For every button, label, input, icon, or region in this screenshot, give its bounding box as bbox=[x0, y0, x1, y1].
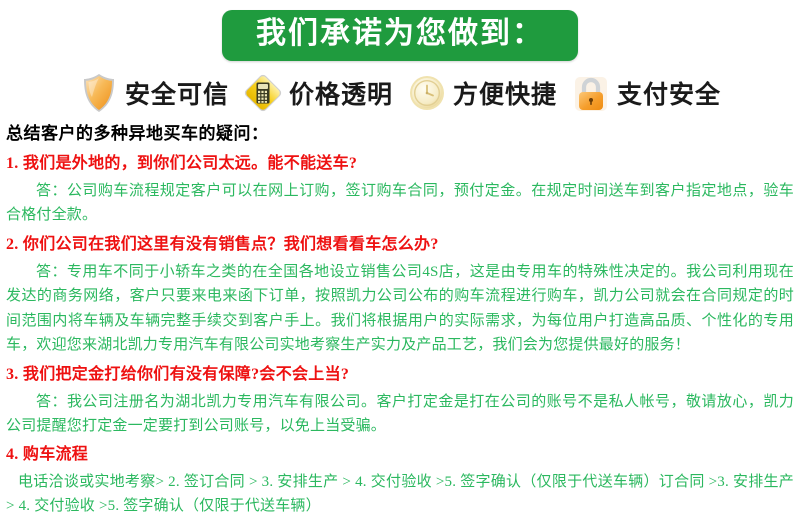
feature-row: 安全可信 bbox=[0, 71, 800, 115]
shield-icon bbox=[79, 71, 119, 115]
faq-content: 总结客户的多种异地买车的疑问： 1. 我们是外地的，到你们公司太远。能不能送车?… bbox=[0, 115, 800, 518]
promo-page: 我们承诺为您做到： 安全可信 bbox=[0, 0, 800, 505]
purchase-flow-title: 4. 购车流程 bbox=[6, 443, 794, 468]
feature-item-payment: 支付安全 bbox=[571, 71, 721, 115]
feature-item-convenience: 方便快捷 bbox=[407, 71, 557, 115]
feature-label-convenience: 方便快捷 bbox=[453, 75, 557, 111]
clock-icon bbox=[407, 71, 447, 115]
feature-label-security: 安全可信 bbox=[125, 75, 229, 111]
faq-question-3: 3. 我们把定金打给你们有没有保障?会不会上当? bbox=[6, 363, 794, 388]
feature-item-security: 安全可信 bbox=[79, 71, 229, 115]
feature-label-payment: 支付安全 bbox=[617, 75, 721, 111]
faq-question-2: 2. 你们公司在我们这里有没有销售点？我们想看看车怎么办? bbox=[6, 233, 794, 258]
feature-label-price: 价格透明 bbox=[289, 75, 393, 111]
feature-item-price: 价格透明 bbox=[243, 71, 393, 115]
faq-question-1: 1. 我们是外地的，到你们公司太远。能不能送车? bbox=[6, 152, 794, 177]
calculator-icon bbox=[243, 71, 283, 115]
faq-answer-1: 答：公司购车流程规定客户可以在网上订购，签订购车合同，预付定金。在规定时间送车到… bbox=[6, 179, 794, 228]
banner-container: 我们承诺为您做到： bbox=[0, 0, 800, 61]
purchase-flow-steps: 电话洽谈或实地考察> 2. 签订合同 > 3. 安排生产 > 4. 交付验收 >… bbox=[6, 470, 794, 518]
lock-icon bbox=[571, 71, 611, 115]
faq-answer-2: 答：专用车不同于小轿车之类的在全国各地设立销售公司4S店，这是由专用车的特殊性决… bbox=[6, 260, 794, 357]
promise-banner: 我们承诺为您做到： bbox=[222, 10, 578, 61]
section-title: 总结客户的多种异地买车的疑问： bbox=[6, 121, 794, 147]
faq-answer-3: 答：我公司注册名为湖北凯力专用汽车有限公司。客户打定金是打在公司的账号不是私人帐… bbox=[6, 390, 794, 439]
